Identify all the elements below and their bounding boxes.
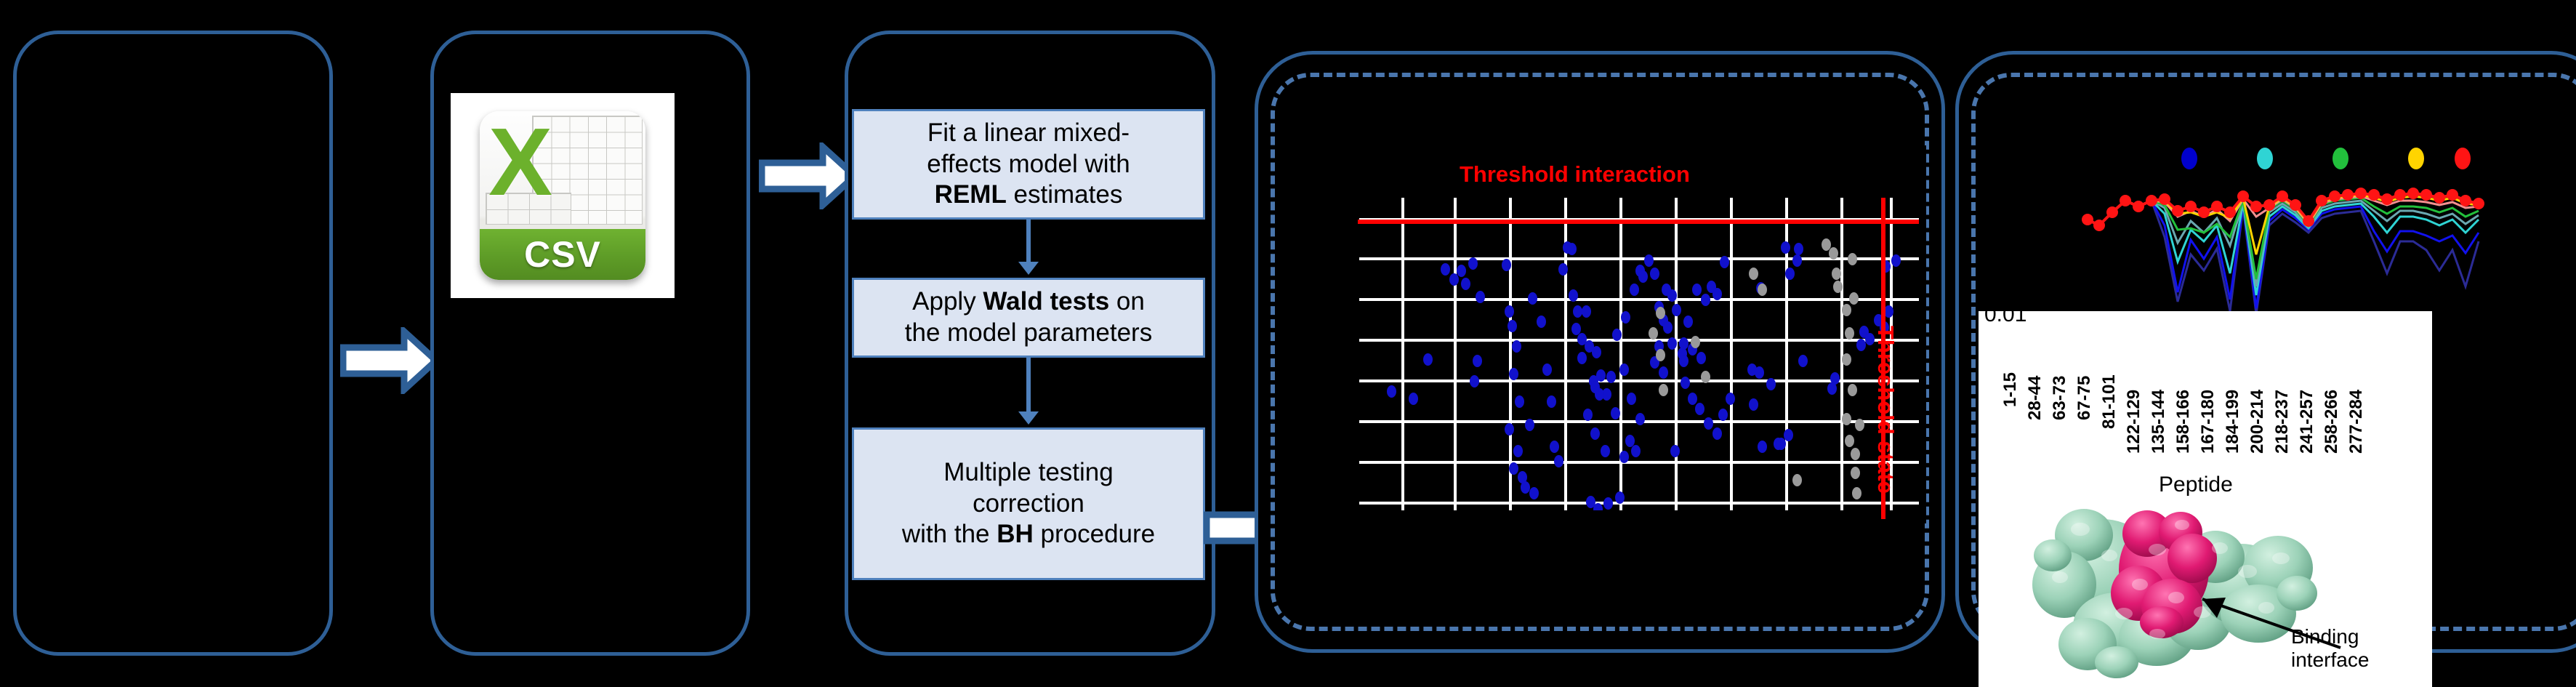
step-reml-keyword: REML (935, 180, 1007, 209)
scatter-point-significant (1701, 294, 1710, 306)
scatter-point-significant (1720, 256, 1729, 268)
scatter-point-significant (1528, 292, 1537, 305)
scatter-point-significant (1601, 445, 1610, 457)
scatter-point-significant (1644, 254, 1654, 267)
threshold-state-label: Threshold state (1872, 326, 1899, 494)
scatter-point-nonsignificant (1656, 349, 1665, 361)
scatter-point-significant (1461, 278, 1470, 290)
scatter-point-significant (1567, 243, 1577, 255)
scatter-point-significant (1582, 305, 1591, 318)
scatter-point-nonsignificant (1833, 281, 1843, 293)
scatter-point-nonsignificant (1842, 304, 1851, 316)
scatter-point-significant (1505, 305, 1514, 318)
scatter-point-significant (1542, 363, 1552, 376)
gridline-h (1359, 298, 1919, 301)
scatter-point-significant (1695, 403, 1704, 415)
scatter-point-significant (1679, 337, 1689, 350)
peptide-xtick: 200-214 (2247, 390, 2268, 454)
scatter-point-nonsignificant (1845, 435, 1854, 447)
scatter-point-nonsignificant (1701, 371, 1710, 383)
binding-interface-annotation: Binding interface (2291, 625, 2369, 672)
scatter-point-nonsignificant (1848, 384, 1857, 396)
scatter-point-significant (1473, 355, 1482, 367)
scatter-point-nonsignificant (1792, 474, 1802, 486)
scatter-point-significant (1521, 481, 1530, 494)
scatter-point-nonsignificant (1848, 253, 1857, 265)
peptide-chart-svg (2006, 131, 2559, 313)
figure-canvas: X CSV Fit a linear mixed- effects model … (0, 0, 2576, 687)
step-bh-keyword: BH (997, 520, 1034, 548)
scatter-point-significant (1387, 385, 1396, 398)
scatter-point-significant (1554, 455, 1563, 467)
scatter-point-significant (1457, 265, 1466, 277)
gridline-h (1359, 461, 1919, 464)
scatter-point-significant (1509, 462, 1518, 475)
scatter-point-significant (1663, 321, 1673, 334)
scatter-point-significant (1627, 393, 1636, 405)
scatter-point-significant (1590, 427, 1600, 440)
peptide-xtick: 28-44 (2025, 376, 2045, 420)
scatter-point-significant (1827, 382, 1837, 395)
step-wald-line1-b: on (1109, 287, 1145, 316)
peptide-xtick: 122-129 (2124, 390, 2144, 454)
scatter-point-significant (1667, 337, 1677, 350)
scatter-point-nonsignificant (1656, 307, 1665, 319)
scatter-point-significant (1781, 241, 1790, 254)
scatter-point-significant (1596, 369, 1606, 382)
scatter-point-significant (1631, 445, 1641, 457)
scatter-point-significant (1650, 268, 1659, 280)
scatter-point-significant (1409, 393, 1418, 405)
connector-reml-to-wald (1026, 220, 1031, 268)
scatter-point-significant (1688, 393, 1697, 405)
scatter-point-nonsignificant (1855, 419, 1864, 431)
scatter-point-significant (1569, 289, 1578, 302)
step-bh-box[interactable]: Multiple testing correction with the BH … (852, 427, 1205, 580)
scatter-point-nonsignificant (1749, 268, 1758, 280)
threshold-scatter-plot: Threshold interaction (1352, 145, 1926, 523)
scatter-point-significant (1423, 353, 1433, 366)
csv-file-icon-card: X CSV (451, 93, 675, 298)
scatter-point-nonsignificant (1649, 327, 1658, 340)
scatter-point-significant (1630, 284, 1639, 296)
scatter-point-significant (1619, 451, 1629, 463)
scatter-point-significant (1856, 339, 1866, 351)
step-bh-line2: correction (973, 489, 1084, 518)
scatter-point-significant (1476, 291, 1485, 303)
scatter-point-significant (1515, 395, 1524, 408)
scatter-point-significant (1508, 320, 1517, 332)
scatter-point-significant (1592, 346, 1601, 358)
step-wald-line1-a: Apply (912, 287, 983, 316)
scatter-point-nonsignificant (1758, 284, 1767, 296)
legend-marker-green (2333, 148, 2348, 169)
scatter-point-significant (1758, 441, 1767, 453)
peptide-xtick: 67-75 (2074, 376, 2095, 420)
scatter-point-significant (1718, 409, 1728, 421)
scatter-point-significant (1603, 497, 1613, 510)
scatter-point-significant (1692, 284, 1702, 296)
legend-marker-red (2455, 148, 2471, 169)
scatter-point-nonsignificant (1832, 268, 1841, 280)
scatter-plot-area (1359, 198, 1919, 510)
scatter-point-nonsignificant (1842, 353, 1851, 366)
peptide-xtick: 277-284 (2346, 390, 2367, 454)
peptide-significance-chart (2006, 131, 2559, 313)
scatter-point-nonsignificant (1842, 413, 1851, 425)
gridline-h (1359, 502, 1919, 505)
csv-format-label: CSV (524, 233, 601, 276)
scatter-point-significant (1525, 419, 1534, 431)
legend-marker-navy (2181, 148, 2197, 169)
binding-interface-line2: interface (2291, 648, 2369, 672)
scatter-point-significant (1577, 352, 1587, 364)
scatter-point-significant (1590, 381, 1600, 393)
scatter-point-significant (1749, 398, 1758, 411)
peptide-xtick: 158-166 (2173, 390, 2194, 454)
scatter-point-significant (1667, 289, 1677, 302)
excel-x-icon: X (488, 114, 550, 210)
scatter-point-significant (1659, 366, 1668, 379)
scatter-point-nonsignificant (1691, 336, 1700, 348)
step-bh-line3-a: with the (902, 520, 997, 548)
peptide-axis-and-structure-card: 0.01 1-15 28-44 63-73 67-75 81-101 122-1… (1979, 311, 2432, 687)
scatter-point-significant (1529, 487, 1539, 499)
csv-file-icon: X CSV (480, 111, 645, 280)
step-reml-line3-rest: estimates (1007, 180, 1123, 209)
arrow-1 (340, 327, 439, 394)
csv-format-band: CSV (480, 229, 645, 280)
scatter-point-significant (1502, 259, 1511, 271)
scatter-point-significant (1550, 441, 1559, 453)
scatter-point-significant (1670, 445, 1680, 457)
data-collection-panel (13, 31, 333, 656)
scatter-point-significant (1606, 371, 1616, 383)
step-bh-text: Multiple testing correction with the BH … (902, 457, 1155, 550)
scatter-point-significant (1621, 311, 1630, 324)
step-wald-text: Apply Wald tests on the model parameters (905, 286, 1152, 348)
step-wald-box[interactable]: Apply Wald tests on the model parameters (852, 278, 1205, 358)
step-reml-line2: effects model with (927, 150, 1130, 178)
scatter-point-nonsignificant (1829, 247, 1838, 260)
peptide-series-blue (2088, 201, 2479, 308)
scatter-point-significant (1794, 243, 1803, 255)
scatter-point-significant (1681, 377, 1690, 389)
peptide-xtick: 241-257 (2297, 390, 2317, 454)
step-bh-line3-b: procedure (1034, 520, 1155, 548)
connector-arrowhead-1 (1018, 262, 1039, 275)
step-wald-line2: the model parameters (905, 318, 1152, 347)
scatter-point-significant (1672, 304, 1681, 316)
scatter-point-significant (1583, 409, 1593, 421)
step-reml-line1: Fit a linear mixed- (927, 118, 1130, 147)
scatter-point-significant (1470, 375, 1479, 387)
scatter-point-significant (1513, 445, 1523, 457)
scatter-point-significant (1891, 254, 1901, 267)
threshold-interaction-label: Threshold interaction (1460, 161, 1690, 188)
scatter-point-significant (1547, 395, 1556, 408)
scatter-point-significant (1611, 407, 1620, 419)
gridline-h (1359, 339, 1919, 342)
connector-arrowhead-2 (1018, 411, 1039, 425)
arrow-2 (759, 142, 858, 209)
scatter-point-nonsignificant (1851, 467, 1860, 479)
scatter-point-significant (1619, 363, 1629, 376)
scatter-point-significant (1683, 316, 1693, 328)
legend-marker-yellow (2408, 148, 2424, 169)
peptide-xtick: 135-144 (2149, 390, 2169, 454)
scatter-point-nonsignificant (1852, 487, 1861, 499)
scatter-point-significant (1612, 329, 1622, 341)
peptide-xtick: 258-266 (2322, 390, 2342, 454)
scatter-point-significant (1509, 368, 1518, 380)
scatter-point-significant (1696, 352, 1706, 364)
scatter-point-nonsignificant (1845, 327, 1854, 340)
connector-wald-to-bh (1026, 358, 1031, 417)
scatter-point-significant (1798, 355, 1808, 367)
scatter-point-significant (1441, 263, 1450, 276)
peptide-xtick: 167-180 (2198, 390, 2218, 454)
peptide-xtick: 63-73 (2050, 376, 2070, 420)
step-reml-box[interactable]: Fit a linear mixed- effects model with R… (852, 109, 1205, 220)
scatter-point-nonsignificant (1659, 384, 1668, 396)
step-wald-keyword: Wald tests (983, 287, 1109, 316)
scatter-point-significant (1505, 423, 1514, 435)
scatter-point-nonsignificant (1851, 448, 1860, 460)
scatter-point-significant (1785, 268, 1795, 280)
threshold-interaction-line (1358, 220, 1919, 224)
step-bh-line1: Multiple testing (943, 458, 1113, 486)
peptide-xtick: 184-199 (2223, 390, 2243, 454)
scatter-point-significant (1468, 257, 1478, 270)
binding-interface-line1: Binding (2291, 625, 2369, 648)
scatter-point-significant (1755, 366, 1764, 379)
scatter-point-significant (1712, 427, 1722, 440)
scatter-point-significant (1635, 413, 1645, 425)
scatter-point-significant (1784, 429, 1793, 441)
scatter-point-significant (1558, 263, 1568, 276)
scatter-point-nonsignificant (1849, 292, 1859, 305)
scatter-point-significant (1726, 393, 1735, 405)
peptide-xtick: 81-101 (2099, 374, 2120, 429)
scatter-point-significant (1679, 355, 1689, 367)
legend-marker-cyan (2257, 148, 2273, 169)
step-reml-text: Fit a linear mixed- effects model with R… (927, 118, 1130, 211)
scatter-point-significant (1638, 270, 1648, 283)
scatter-point-significant (1704, 417, 1713, 430)
scatter-point-significant (1792, 254, 1802, 267)
csv-sheet-area: X (480, 111, 645, 229)
scatter-point-significant (1593, 503, 1603, 510)
peptide-ytick-001: 0.01 (1984, 311, 2026, 327)
scatter-point-significant (1537, 316, 1546, 328)
scatter-point-significant (1512, 340, 1521, 353)
scatter-point-significant (1615, 491, 1625, 504)
peptide-xtick: 1-15 (2000, 372, 2021, 407)
scatter-point-significant (1712, 288, 1722, 300)
scatter-point-significant (1766, 378, 1776, 390)
peptide-xtick: 218-237 (2272, 390, 2293, 454)
